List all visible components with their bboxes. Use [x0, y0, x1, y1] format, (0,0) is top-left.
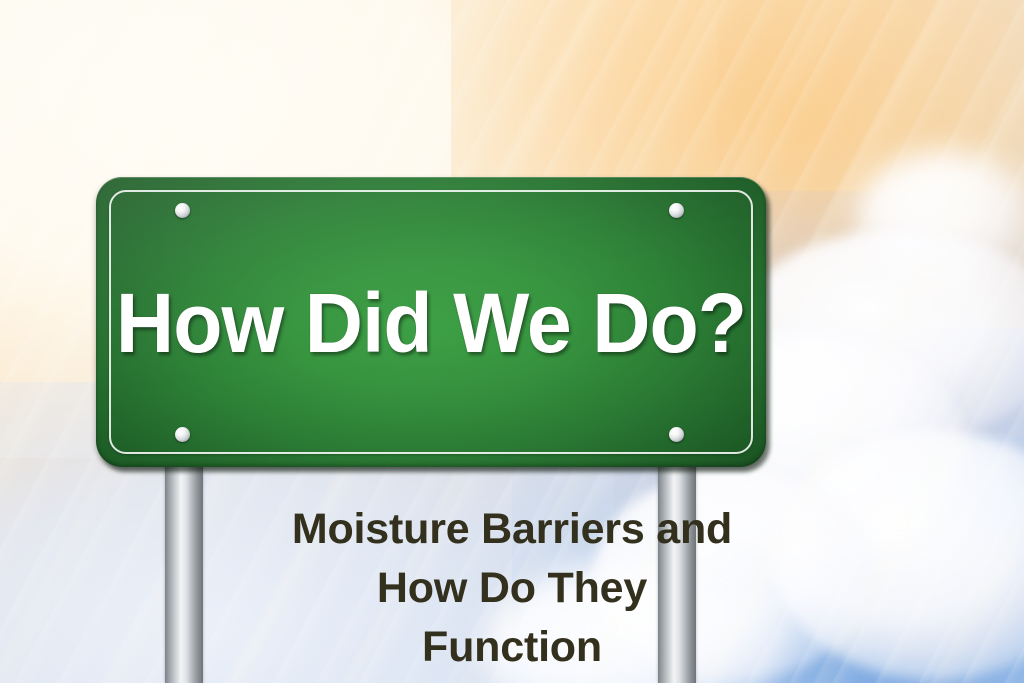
screenshot-canvas: How Did We Do? Moisture Barriers and How… [0, 0, 1024, 683]
caption-line-2: How Do They [0, 559, 1024, 618]
sign-bolt-icon [175, 203, 190, 218]
sign-bolt-icon [669, 203, 684, 218]
road-sign: How Did We Do? [96, 177, 766, 467]
caption-line-1: Moisture Barriers and [0, 500, 1024, 559]
sign-title-text: How Did We Do? [109, 281, 752, 365]
caption-line-3: Function [0, 618, 1024, 677]
sign-bolt-icon [175, 427, 190, 442]
sign-bolt-icon [669, 427, 684, 442]
caption-block: Moisture Barriers and How Do They Functi… [0, 500, 1024, 677]
sign-face: How Did We Do? [96, 177, 766, 467]
